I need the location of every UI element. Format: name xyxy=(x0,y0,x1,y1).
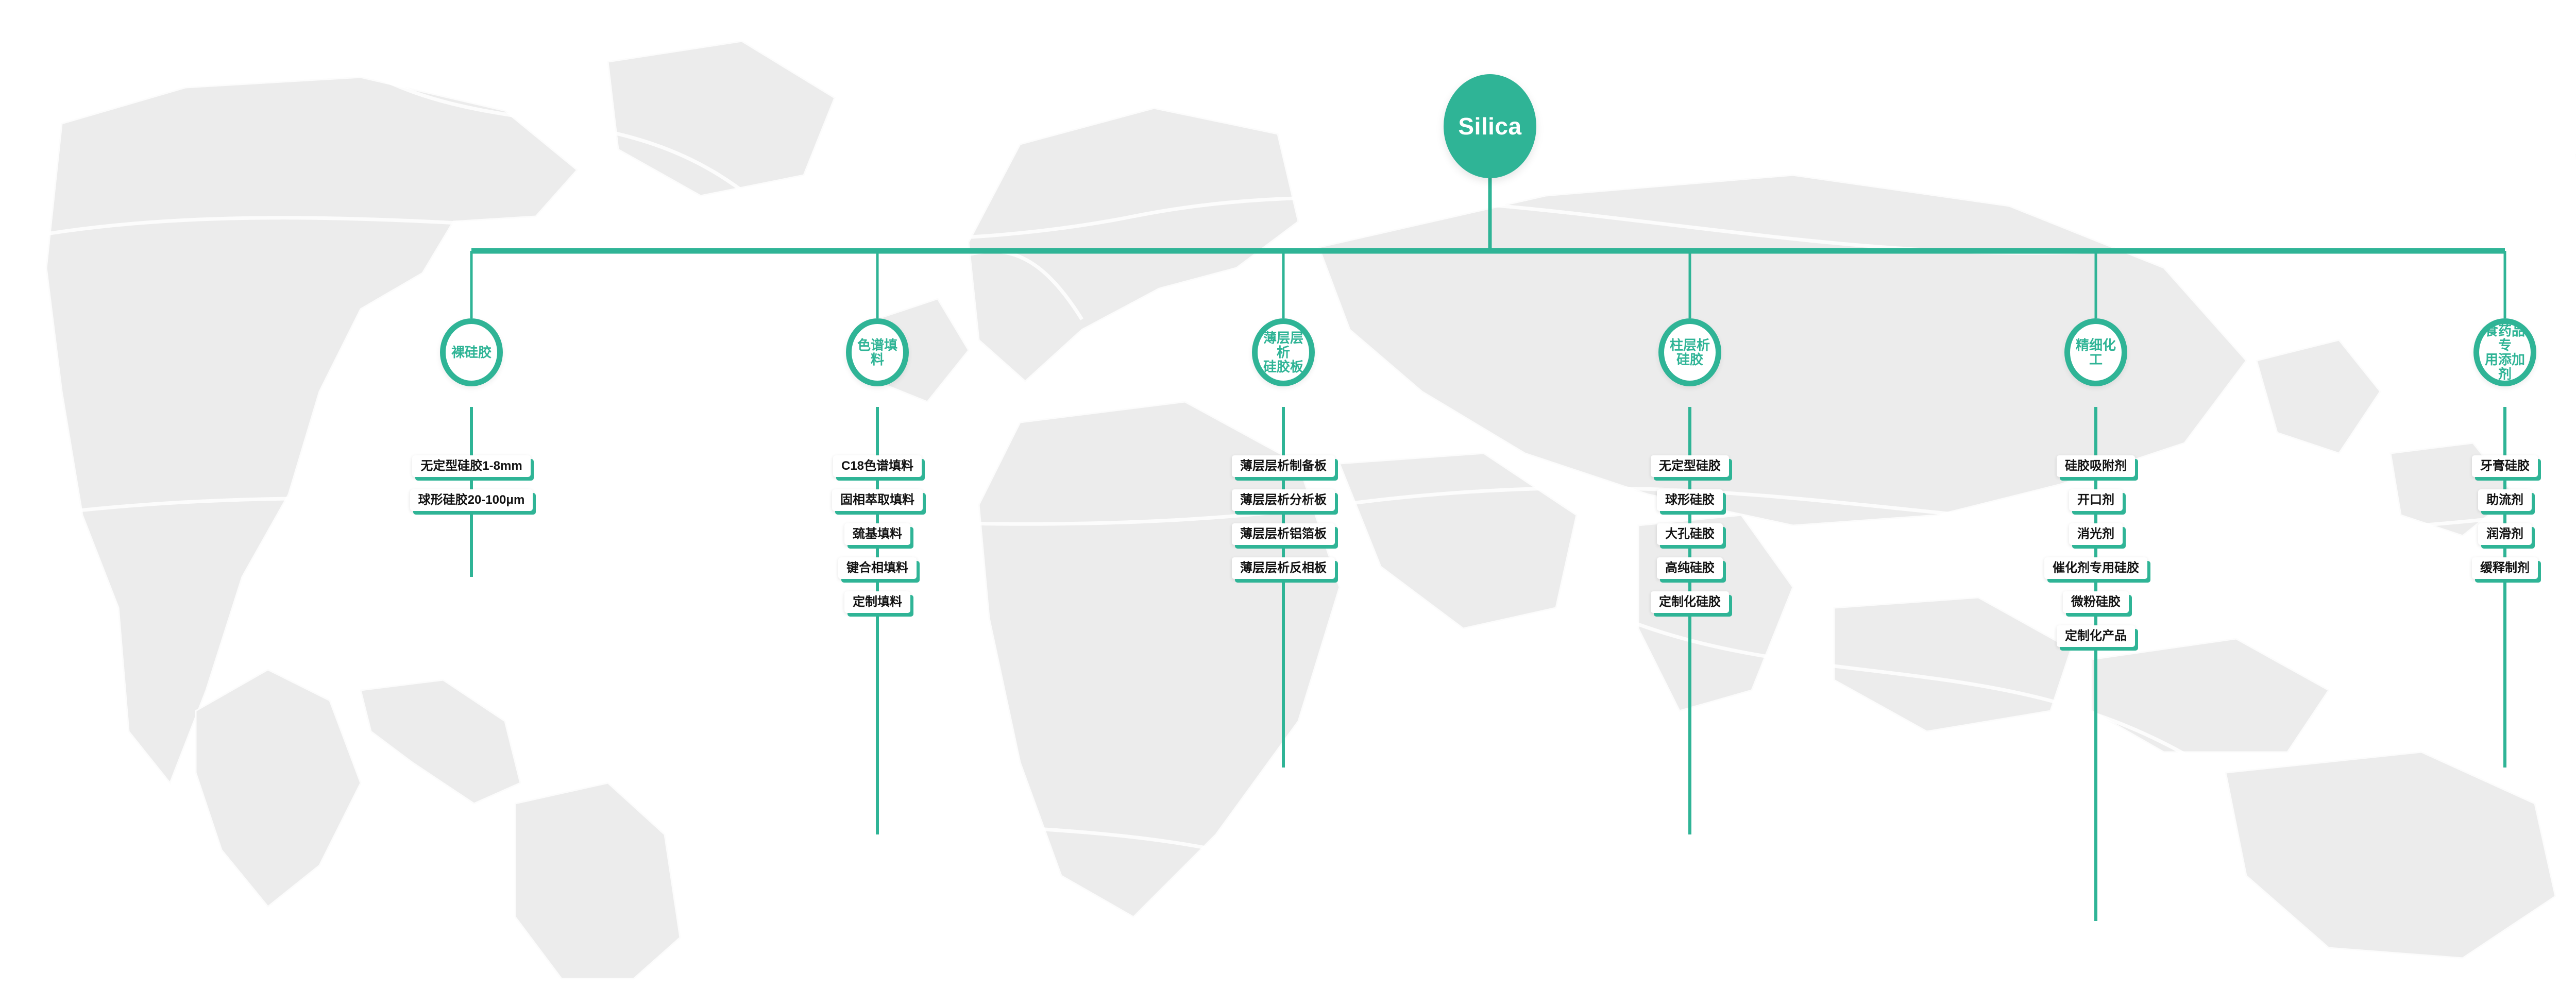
category-node-4[interactable]: 柱层析 硅胶 xyxy=(1658,318,1721,386)
diagram-canvas: Silica 裸硅胶 无定型硅胶1-8mm 球形硅胶20-100μm 色谱填料 … xyxy=(0,0,2576,989)
category-node-1[interactable]: 裸硅胶 xyxy=(440,318,503,386)
leaf-label: 润滑剂 xyxy=(2486,528,2523,540)
list-item[interactable]: 高纯硅胶 xyxy=(1657,557,1723,579)
leaf-label: 微粉硅胶 xyxy=(2071,596,2121,608)
leaf-label: 无定型硅胶1-8mm xyxy=(420,460,522,472)
list-item[interactable]: 球形硅胶 xyxy=(1657,489,1723,511)
list-item[interactable]: 润滑剂 xyxy=(2478,523,2532,545)
leaf-label: 催化剂专用硅胶 xyxy=(2053,562,2139,574)
leaf-label: 薄层层析反相板 xyxy=(1240,562,1327,574)
list-item[interactable]: 消光剂 xyxy=(2069,523,2123,545)
leaf-label: 薄层层析铝箔板 xyxy=(1240,528,1327,540)
leaf-column-4: 无定型硅胶 球形硅胶 大孔硅胶 高纯硅胶 定制化硅胶 xyxy=(1587,455,1793,613)
leaf-label: 球形硅胶20-100μm xyxy=(418,494,525,506)
list-item[interactable]: 定制填料 xyxy=(844,591,910,613)
list-item[interactable]: 开口剂 xyxy=(2069,489,2123,511)
list-item[interactable]: 助流剂 xyxy=(2478,489,2532,511)
leaf-label: 定制化产品 xyxy=(2065,630,2127,642)
list-item[interactable]: C18色谱填料 xyxy=(833,455,922,477)
leaf-label: 无定型硅胶 xyxy=(1659,460,1721,472)
list-item[interactable]: 薄层层析制备板 xyxy=(1232,455,1335,477)
list-item[interactable]: 微粉硅胶 xyxy=(2063,591,2129,613)
list-item[interactable]: 催化剂专用硅胶 xyxy=(2044,557,2147,579)
category-node-6-label: 食药品专 用添加剂 xyxy=(2479,323,2531,381)
leaf-label: C18色谱填料 xyxy=(841,460,913,472)
category-node-2-label: 色谱填料 xyxy=(852,338,903,367)
category-node-6[interactable]: 食药品专 用添加剂 xyxy=(2473,318,2536,386)
leaf-label: 巯基填料 xyxy=(853,528,902,540)
category-node-3-label: 薄层层析 硅胶板 xyxy=(1258,331,1309,374)
list-item[interactable]: 硅胶吸附剂 xyxy=(2057,455,2135,477)
list-item[interactable]: 无定型硅胶1-8mm xyxy=(412,455,530,477)
list-item[interactable]: 牙膏硅胶 xyxy=(2472,455,2538,477)
leaf-label: 定制化硅胶 xyxy=(1659,596,1721,608)
list-item[interactable]: 键合相填料 xyxy=(838,557,917,579)
leaf-label: 薄层层析制备板 xyxy=(1240,460,1327,472)
leaf-label: 球形硅胶 xyxy=(1665,494,1715,506)
list-item[interactable]: 大孔硅胶 xyxy=(1657,523,1723,545)
list-item[interactable]: 薄层层析反相板 xyxy=(1232,557,1335,579)
leaf-label: 薄层层析分析板 xyxy=(1240,494,1327,506)
category-node-1-label: 裸硅胶 xyxy=(450,345,493,360)
leaf-label: 定制填料 xyxy=(853,596,902,608)
root-node-label: Silica xyxy=(1458,114,1521,138)
list-item[interactable]: 薄层层析铝箔板 xyxy=(1232,523,1335,545)
leaf-label: 助流剂 xyxy=(2486,494,2523,506)
leaf-label: 硅胶吸附剂 xyxy=(2065,460,2127,472)
leaf-label: 牙膏硅胶 xyxy=(2480,460,2530,472)
list-item[interactable]: 固相萃取填料 xyxy=(832,489,923,511)
list-item[interactable]: 薄层层析分析板 xyxy=(1232,489,1335,511)
leaf-column-3: 薄层层析制备板 薄层层析分析板 薄层层析铝箔板 薄层层析反相板 xyxy=(1180,455,1386,579)
leaf-column-6: 牙膏硅胶 助流剂 润滑剂 缓释制剂 xyxy=(2402,455,2576,579)
leaf-column-5: 硅胶吸附剂 开口剂 消光剂 催化剂专用硅胶 微粉硅胶 定制化产品 xyxy=(1993,455,2199,647)
leaf-label: 缓释制剂 xyxy=(2480,562,2530,574)
list-item[interactable]: 球形硅胶20-100μm xyxy=(410,489,533,511)
category-node-5-label: 精细化工 xyxy=(2070,338,2122,367)
root-node-silica[interactable]: Silica xyxy=(1444,74,1536,178)
leaf-label: 消光剂 xyxy=(2077,528,2114,540)
category-node-2[interactable]: 色谱填料 xyxy=(846,318,909,386)
list-item[interactable]: 无定型硅胶 xyxy=(1651,455,1729,477)
leaf-label: 大孔硅胶 xyxy=(1665,528,1715,540)
leaf-label: 固相萃取填料 xyxy=(840,494,914,506)
category-node-4-label: 柱层析 硅胶 xyxy=(1669,338,1711,367)
leaf-label: 高纯硅胶 xyxy=(1665,562,1715,574)
category-node-5[interactable]: 精细化工 xyxy=(2064,318,2127,386)
leaf-label: 键合相填料 xyxy=(846,562,908,574)
list-item[interactable]: 巯基填料 xyxy=(844,523,910,545)
leaf-column-1: 无定型硅胶1-8mm 球形硅胶20-100μm xyxy=(368,455,574,511)
leaf-label: 开口剂 xyxy=(2077,494,2114,506)
list-item[interactable]: 定制化硅胶 xyxy=(1651,591,1729,613)
list-item[interactable]: 缓释制剂 xyxy=(2472,557,2538,579)
leaf-column-2: C18色谱填料 固相萃取填料 巯基填料 键合相填料 定制填料 xyxy=(774,455,980,613)
category-node-3[interactable]: 薄层层析 硅胶板 xyxy=(1252,318,1315,386)
list-item[interactable]: 定制化产品 xyxy=(2057,625,2135,647)
